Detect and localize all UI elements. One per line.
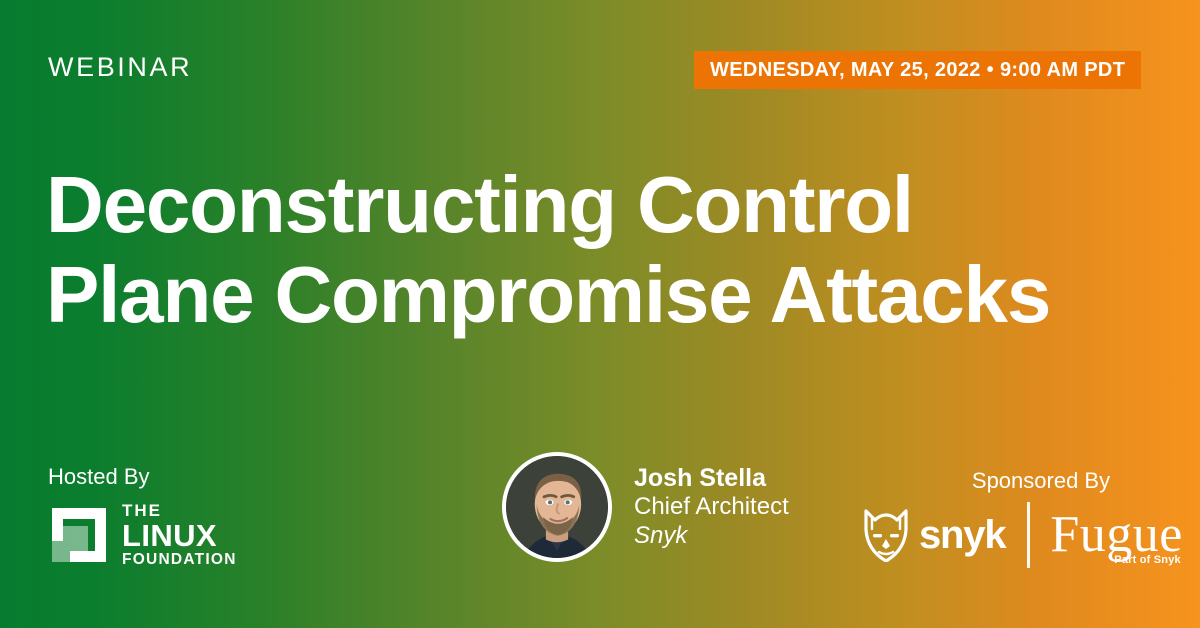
sponsor-block: Sponsored By xyxy=(862,468,1172,568)
sponsor-divider xyxy=(1027,502,1030,568)
hosted-by-label: Hosted By xyxy=(48,464,288,490)
headline-line-1: Deconstructing Control xyxy=(46,160,1176,250)
linux-foundation-logo: THE LINUX FOUNDATION xyxy=(48,502,288,568)
headline-line-2: Plane Compromise Attacks xyxy=(46,250,1176,340)
speaker-details: Josh Stella Chief Architect Snyk xyxy=(634,464,789,550)
eyebrow-label: WEBINAR xyxy=(48,52,192,83)
fugue-tagline: Part of Snyk xyxy=(1114,554,1181,566)
webinar-banner: WEBINAR WEDNESDAY, MAY 25, 2022 • 9:00 A… xyxy=(0,0,1200,628)
fugue-logo: Fugue Part of Snyk xyxy=(1050,509,1183,561)
sponsored-by-label: Sponsored By xyxy=(862,468,1172,494)
lf-word-linux: LINUX xyxy=(122,520,237,551)
snyk-wordmark: snyk xyxy=(919,513,1005,558)
lf-word-the: THE xyxy=(122,502,237,519)
sponsor-logos: snyk Fugue Part of Snyk xyxy=(862,502,1172,568)
speaker-role: Chief Architect xyxy=(634,493,789,521)
banner-footer: Hosted By THE LINUX FOUNDATION xyxy=(0,450,1200,628)
linux-foundation-mark xyxy=(48,504,110,566)
linux-foundation-wordmark: THE LINUX FOUNDATION xyxy=(122,502,237,568)
avatar xyxy=(502,452,612,562)
page-title: Deconstructing Control Plane Compromise … xyxy=(46,160,1176,339)
speaker-name: Josh Stella xyxy=(634,464,789,494)
snyk-dog-icon xyxy=(862,508,910,562)
speaker-block: Josh Stella Chief Architect Snyk xyxy=(502,452,789,562)
lf-word-foundation: FOUNDATION xyxy=(122,552,237,568)
snyk-logo: snyk xyxy=(862,508,1005,562)
date-badge: WEDNESDAY, MAY 25, 2022 • 9:00 AM PDT xyxy=(694,51,1141,89)
hosted-by-block: Hosted By THE LINUX FOUNDATION xyxy=(48,464,288,568)
speaker-organization: Snyk xyxy=(634,522,789,550)
